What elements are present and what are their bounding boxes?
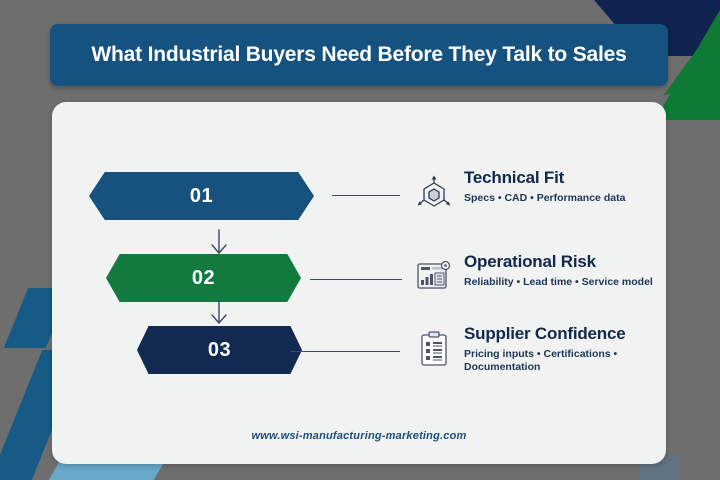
step-badge-03: 03 xyxy=(137,326,302,374)
step-badge-01: 01 xyxy=(89,172,314,220)
connector-line-2 xyxy=(310,279,402,280)
step-text-3: Supplier Confidence Pricing inputs • Cer… xyxy=(464,324,664,375)
step-text-2: Operational Risk Reliability • Lead time… xyxy=(464,252,664,289)
step-subtitle-operational-risk: Reliability • Lead time • Service model xyxy=(464,276,664,290)
page-title: What Industrial Buyers Need Before They … xyxy=(91,42,626,67)
step-row-2: 02 Operational Risk Reliability • Lead t… xyxy=(52,254,666,310)
step-number-label: 03 xyxy=(208,339,231,362)
step-row-3: 03 Supplier Confidence Pricing inputs • … xyxy=(52,326,666,382)
clipboard-checklist-icon xyxy=(412,328,456,372)
step-subtitle-technical-fit: Specs • CAD • Performance data xyxy=(464,192,664,206)
step-row-1: 01 Technical Fit Specs • CAD • Performan… xyxy=(52,170,666,226)
analytics-dashboard-icon xyxy=(412,254,456,298)
connector-line-3 xyxy=(290,351,400,352)
flow-arrow-down-2 xyxy=(207,298,231,328)
step-number-label: 01 xyxy=(190,185,213,208)
footer-website-url: www.wsi-manufacturing-marketing.com xyxy=(52,430,666,442)
connector-line-1 xyxy=(332,195,400,196)
step-badge-02: 02 xyxy=(106,254,301,302)
step-title-technical-fit: Technical Fit xyxy=(464,168,664,188)
cube-node-icon xyxy=(412,172,456,216)
step-title-supplier-confidence: Supplier Confidence xyxy=(464,324,664,344)
step-title-operational-risk: Operational Risk xyxy=(464,252,664,272)
content-card: 01 Technical Fit Specs • CAD • Performan… xyxy=(52,102,666,464)
title-banner: What Industrial Buyers Need Before They … xyxy=(50,24,668,86)
step-text-1: Technical Fit Specs • CAD • Performance … xyxy=(464,168,664,205)
step-subtitle-supplier-confidence: Pricing inputs • Certifications • Docume… xyxy=(464,348,664,375)
step-number-label: 02 xyxy=(192,267,215,290)
